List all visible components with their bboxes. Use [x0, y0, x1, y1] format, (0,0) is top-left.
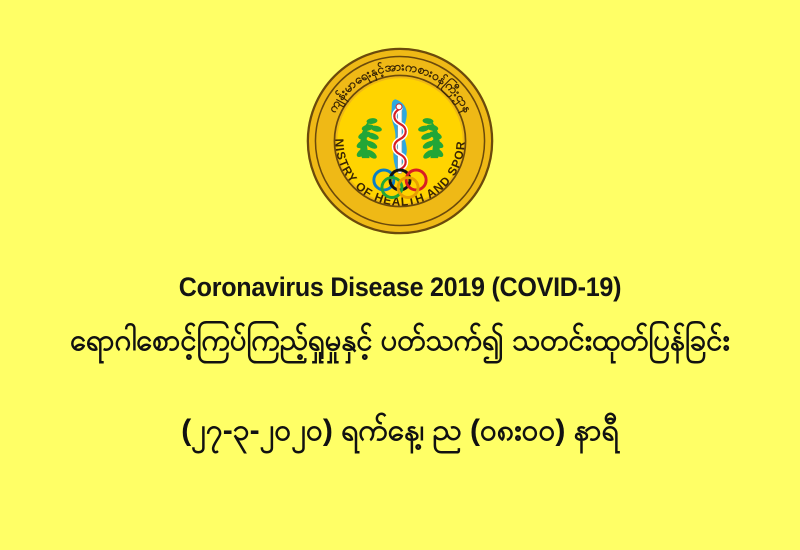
date-time-burmese: (၂၇-၃-၂၀၂၀) ရက်နေ့၊ ည (၀၈း၀၀) နာရီ [0, 409, 800, 453]
press-release-slide: ကျန်းမာရေးနှင့်အားကစားဝန်ကြီးဌာန MINISTR… [0, 0, 800, 550]
ministry-seal-icon: ကျန်းမာရေးနှင့်အားကစားဝန်ကြီးဌာန MINISTR… [305, 46, 495, 236]
title-burmese: ရောဂါစောင့်ကြပ်ကြည့်ရှုမှုနှင့် ပတ်သက်၍ … [12, 319, 788, 363]
serpent-head-icon [396, 104, 402, 110]
headline-block: Coronavirus Disease 2019 (COVID-19) ရောဂ… [0, 272, 800, 452]
ministry-logo: ကျန်းမာရေးနှင့်အားကစားဝန်ကြီးဌာန MINISTR… [305, 46, 495, 236]
title-english: Coronavirus Disease 2019 (COVID-19) [28, 272, 772, 303]
